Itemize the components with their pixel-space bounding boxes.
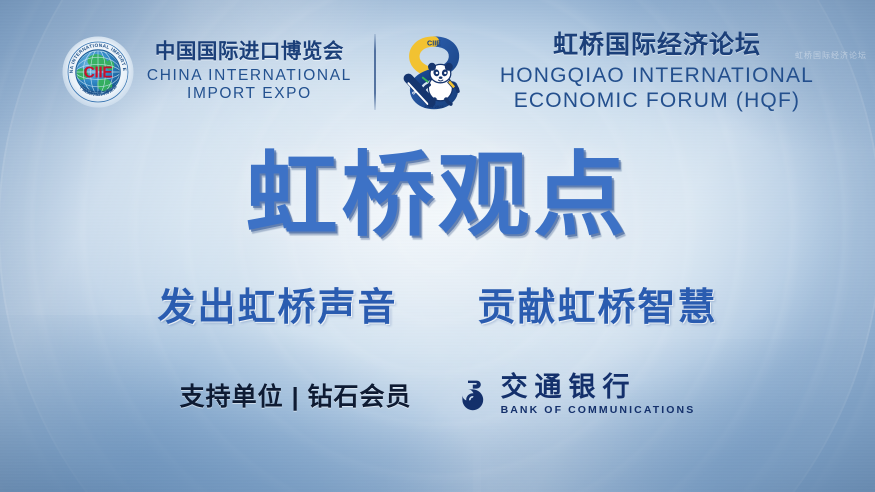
hqf-name-en-line1: HONGQIAO INTERNATIONAL [500,65,814,86]
bank-of-communications-logo-icon [452,375,492,415]
svg-text:CIIE: CIIE [84,65,113,82]
bocom-name-en: BANK OF COMMUNICATIONS [501,405,696,416]
hqf-name-cn: 虹桥国际经济论坛 [553,33,761,58]
ciie-name-en-line1: CHINA INTERNATIONAL [147,68,352,84]
bocom-name-cn: 交通银行 [501,374,696,401]
vertical-divider-icon [374,34,376,110]
corner-watermark: 虹桥国际经济论坛 [795,50,867,61]
header-logo-bar: CHINA INTERNATIONAL IMPORT EXPO 中国国际进口博览… [0,26,875,118]
ciie-wordmark: 中国国际进口博览会 CHINA INTERNATIONAL IMPORT EXP… [147,42,352,102]
subtitle-row: 发出虹桥声音 贡献虹桥智慧 [0,276,875,331]
svg-text:CIIE: CIIE [427,39,441,48]
subtitle-right: 贡献虹桥智慧 [478,276,718,331]
ciie-name-cn: 中国国际进口博览会 [155,42,344,63]
broadcast-lower-third-slate: CHINA INTERNATIONAL IMPORT EXPO 中国国际进口博览… [0,0,875,492]
ciie-globe-emblem-icon: CHINA INTERNATIONAL IMPORT EXPO 中国国际进口博览… [61,35,135,109]
svg-text:2024·2025: 2024·2025 [424,104,444,109]
bank-of-communications-lockup: 交通银行 BANK OF COMMUNICATIONS [452,374,696,416]
hqf-name-en-line2: ECONOMIC FORUM (HQF) [514,90,800,111]
subtitle-left: 发出虹桥声音 [157,276,397,331]
ciie-logo-lockup: CHINA INTERNATIONAL IMPORT EXPO 中国国际进口博览… [61,35,352,109]
ciie-panda-mascot-icon: 8 CIIE [394,32,474,112]
page-title: 虹桥观点 [0,150,875,242]
hqf-wordmark: 虹桥国际经济论坛 HONGQIAO INTERNATIONAL ECONOMIC… [500,33,814,111]
ciie-name-en-line2: IMPORT EXPO [187,86,312,102]
bank-of-communications-wordmark: 交通银行 BANK OF COMMUNICATIONS [501,374,696,416]
sponsor-row: 支持单位 | 钻石会员 交通银行 BANK OF COMMUNICATIONS [0,374,875,416]
sponsor-label: 支持单位 | 钻石会员 [180,377,412,413]
